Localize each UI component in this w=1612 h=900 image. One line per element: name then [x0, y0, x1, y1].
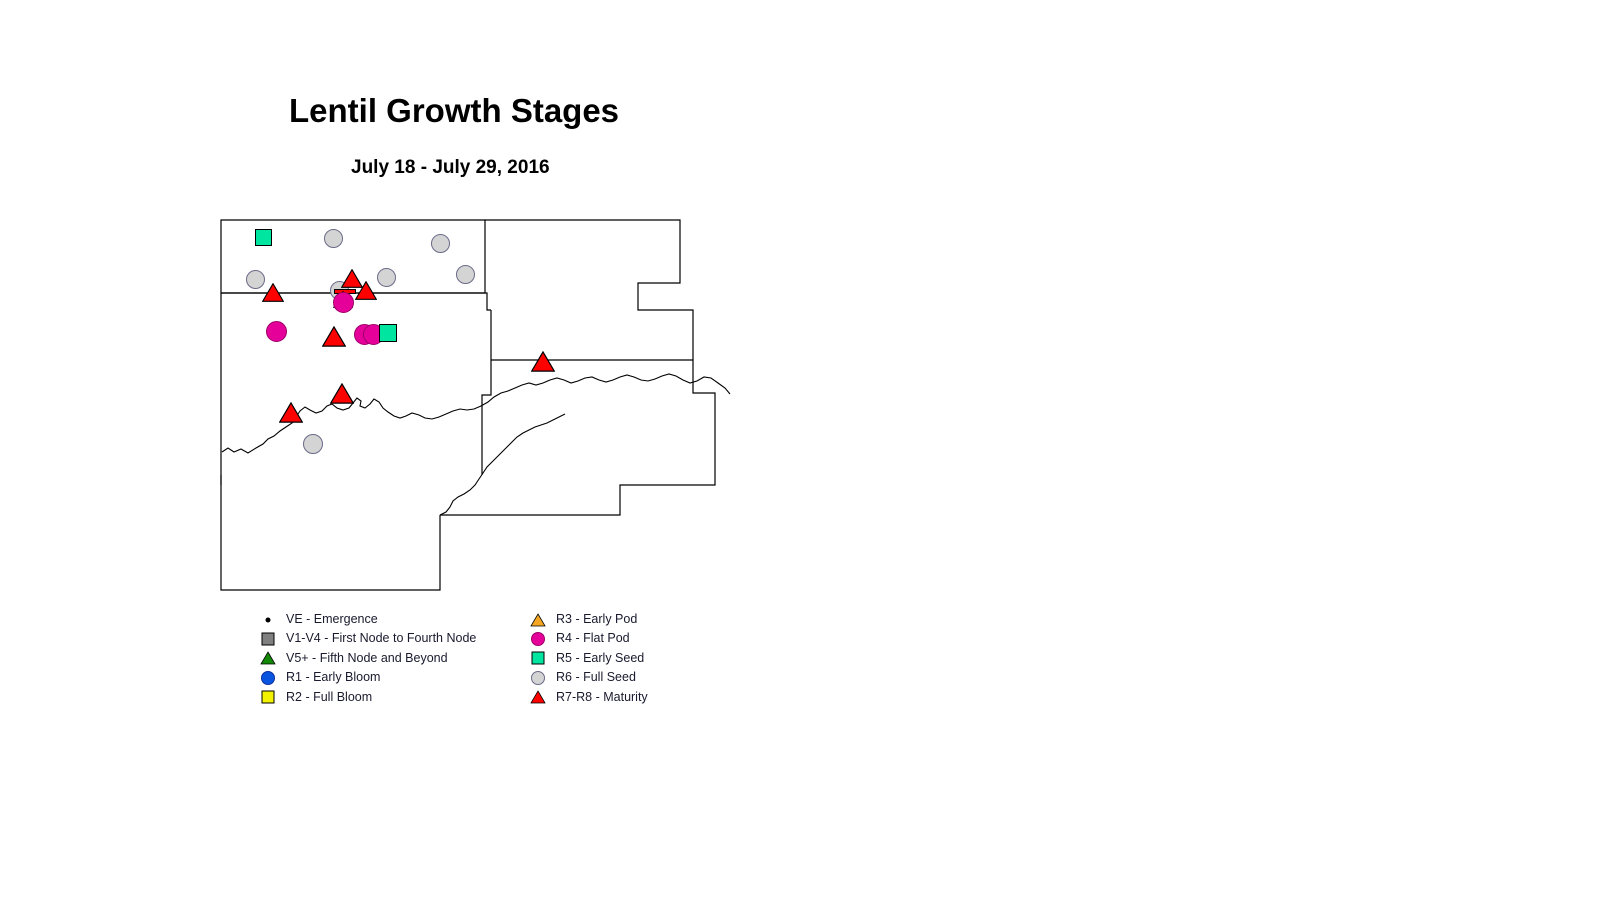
legend-label-v1-v4: V1-V4 - First Node to Fourth Node: [286, 630, 476, 647]
dot-marker-icon: [266, 617, 271, 622]
circle-marker-icon: [303, 434, 323, 454]
map-marker-r7-r8[interactable]: [355, 281, 377, 303]
legend-symbol-r1: [255, 668, 281, 687]
map-marker-r7-r8[interactable]: [322, 326, 346, 350]
circle-marker-icon: [261, 671, 275, 685]
county-vertical-east-step: [482, 360, 491, 475]
county-line-mid-east: [491, 360, 715, 470]
legend-symbol-r7-r8: [525, 688, 551, 707]
triangle-marker-icon: [330, 383, 354, 404]
triangle-marker-icon: [531, 691, 546, 704]
map-marker-r6[interactable]: [377, 268, 396, 287]
map-marker-r6[interactable]: [303, 434, 323, 454]
circle-marker-icon: [266, 321, 287, 342]
legend-label-r1: R1 - Early Bloom: [286, 669, 380, 686]
growth-stage-legend: VE - EmergenceV1-V4 - First Node to Four…: [255, 610, 715, 718]
legend-label-r6: R6 - Full Seed: [556, 669, 636, 686]
map-marker-r6[interactable]: [456, 265, 475, 284]
legend-symbol-r5: [525, 649, 551, 668]
legend-symbol-ve: [255, 610, 281, 629]
map-marker-r5[interactable]: [379, 324, 397, 342]
triangle-marker-icon: [261, 652, 276, 665]
map-marker-r4[interactable]: [266, 321, 287, 342]
triangle-marker-icon: [279, 402, 303, 423]
county-south-east-step: [540, 470, 715, 515]
map-marker-r7-r8[interactable]: [262, 283, 284, 305]
legend-symbol-r3: [525, 610, 551, 629]
county-north-central-edge: [485, 220, 693, 360]
page-subtitle: July 18 - July 29, 2016: [351, 157, 1051, 179]
legend-label-v5plus: V5+ - Fifth Node and Beyond: [286, 650, 448, 667]
map-marker-r7-r8[interactable]: [279, 402, 303, 426]
figure-canvas: Lentil Growth Stages July 18 - July 29, …: [0, 0, 1612, 900]
circle-marker-icon: [333, 292, 354, 313]
triangle-marker-icon: [531, 351, 555, 372]
circle-marker-icon: [531, 632, 545, 646]
legend-symbol-v5plus: [255, 649, 281, 668]
legend-symbol-r4: [525, 629, 551, 648]
circle-marker-icon: [531, 671, 545, 685]
map-marker-r6[interactable]: [324, 229, 343, 248]
map-marker-r6[interactable]: [431, 234, 450, 253]
square-marker-icon: [255, 229, 272, 246]
page-title: Lentil Growth Stages: [289, 92, 989, 130]
triangle-marker-icon: [355, 281, 377, 300]
triangle-marker-icon: [322, 326, 346, 347]
legend-symbol-r2: [255, 688, 281, 707]
square-marker-icon: [262, 691, 275, 704]
legend-label-r5: R5 - Early Seed: [556, 650, 644, 667]
legend-label-r7-r8: R7-R8 - Maturity: [556, 689, 648, 706]
triangle-marker-icon: [531, 613, 546, 626]
square-marker-icon: [262, 632, 275, 645]
map-marker-r4[interactable]: [333, 292, 354, 313]
legend-label-r3: R3 - Early Pod: [556, 611, 637, 628]
legend-label-r2: R2 - Full Bloom: [286, 689, 372, 706]
circle-marker-icon: [431, 234, 450, 253]
missouri-river-south-branch: [440, 414, 565, 515]
circle-marker-icon: [324, 229, 343, 248]
square-marker-icon: [532, 652, 545, 665]
circle-marker-icon: [377, 268, 396, 287]
map-marker-r5[interactable]: [255, 229, 272, 246]
legend-label-r4: R4 - Flat Pod: [556, 630, 630, 647]
county-step-a: [485, 293, 491, 310]
triangle-marker-icon: [262, 283, 284, 302]
map-marker-r7-r8[interactable]: [531, 351, 555, 375]
legend-symbol-v1-v4: [255, 629, 281, 648]
square-marker-icon: [379, 324, 397, 342]
legend-symbol-r6: [525, 668, 551, 687]
map-marker-r7-r8[interactable]: [330, 383, 354, 407]
circle-marker-icon: [456, 265, 475, 284]
legend-label-ve: VE - Emergence: [286, 611, 378, 628]
